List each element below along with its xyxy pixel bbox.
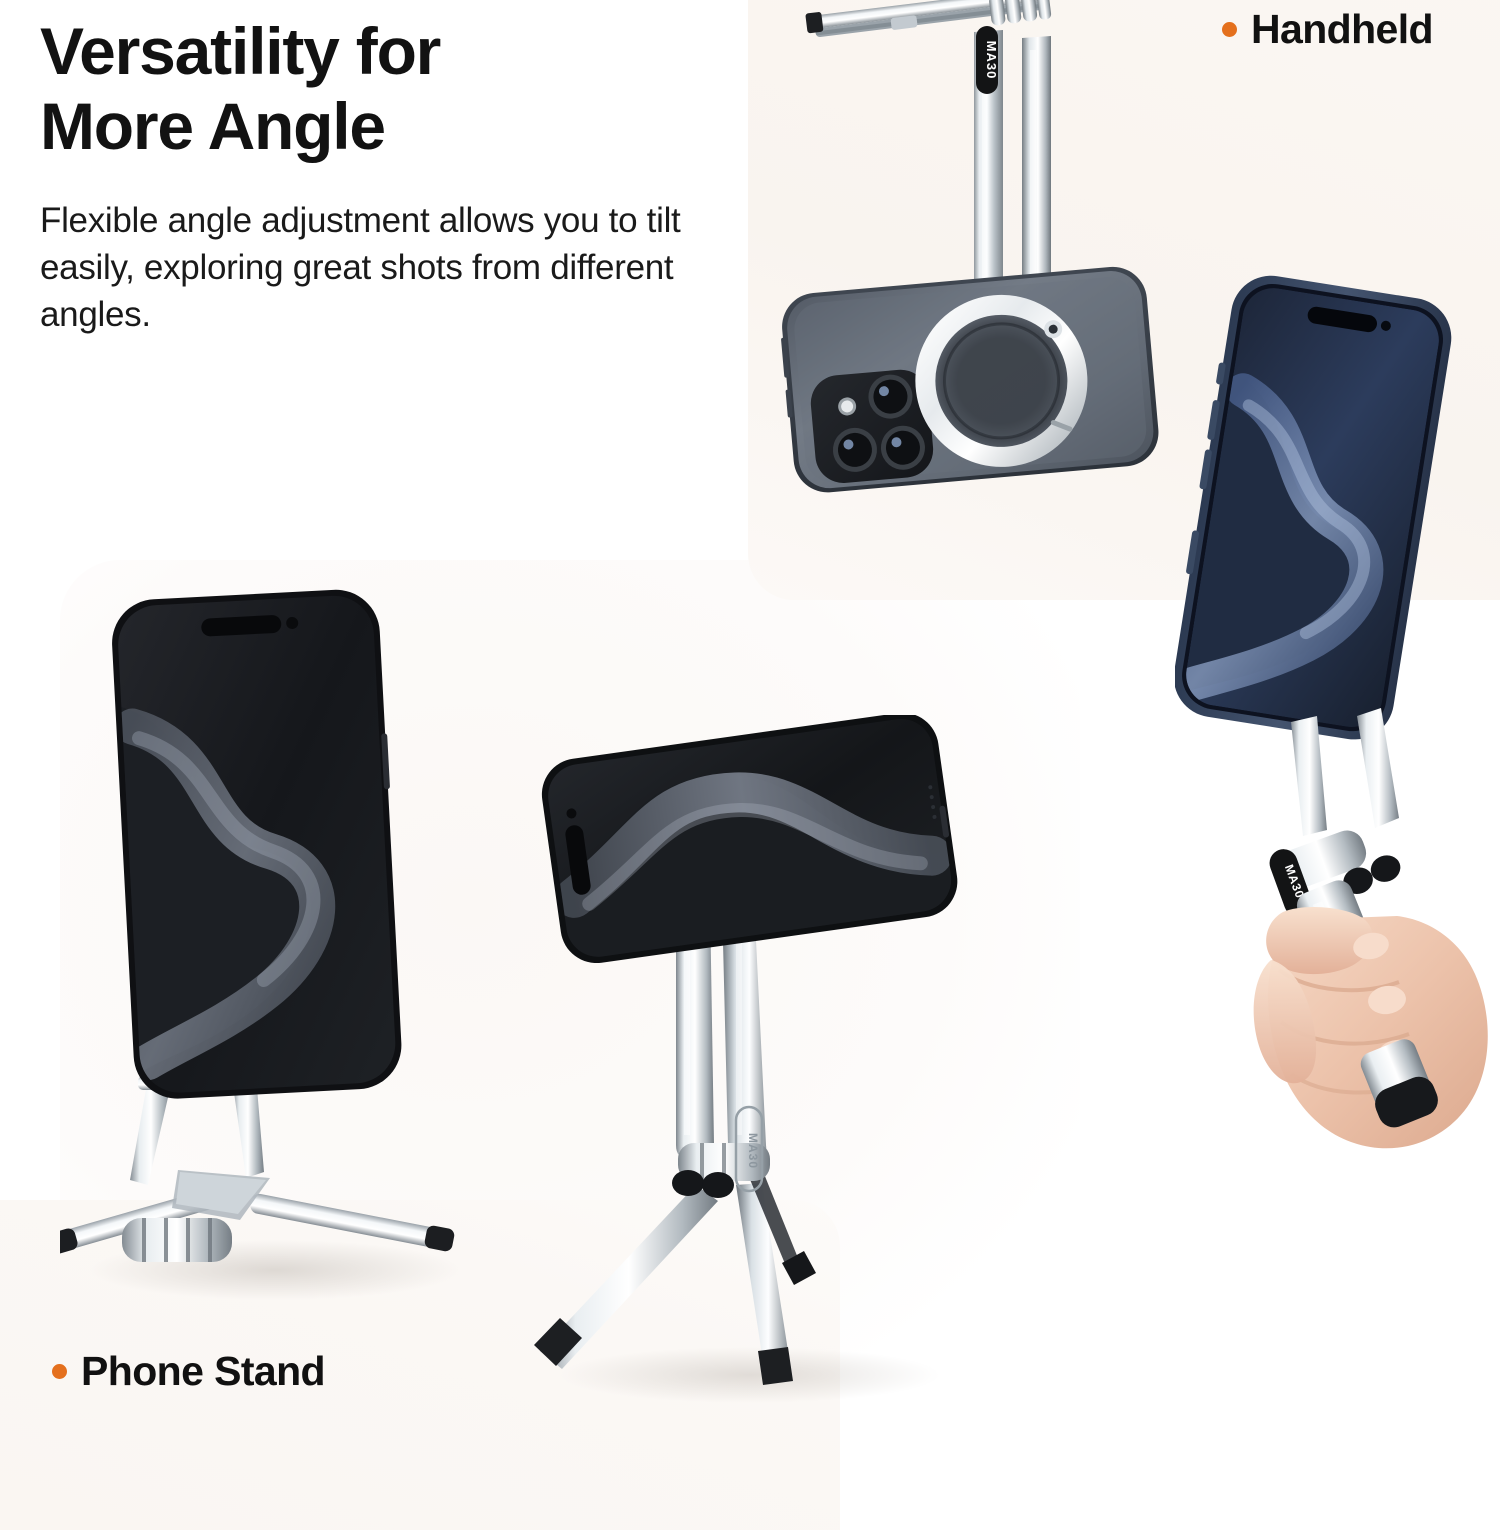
page-title: Versatility for More Angle — [40, 14, 740, 164]
product-shot-handheld-grip: MA30 — [1175, 270, 1500, 1200]
headline-line-1: Versatility for — [40, 14, 440, 88]
subcopy-text: Flexible angle adjustment allows you to … — [40, 198, 730, 338]
bullet-dot-icon — [52, 1364, 67, 1379]
headline-line-2: More Angle — [40, 89, 385, 163]
svg-text:MA30: MA30 — [984, 41, 999, 80]
product-shot-phone-stand-portrait — [60, 580, 490, 1320]
product-shot-phone-stand-landscape: MA30 — [500, 715, 1000, 1415]
callout-phone-stand: Phone Stand — [52, 1348, 325, 1395]
callout-handheld-label: Handheld — [1251, 6, 1433, 53]
headline-block: Versatility for More Angle Flexible angl… — [40, 14, 740, 338]
product-shot-magsafe-ring-mount: MA30 — [760, 0, 1230, 610]
svg-text:MA30: MA30 — [746, 1133, 760, 1169]
product-marketing-canvas: MA30 — [0, 0, 1500, 1463]
callout-phone-stand-label: Phone Stand — [81, 1348, 325, 1395]
callout-handheld: Handheld — [1222, 6, 1433, 53]
bullet-dot-icon — [1222, 22, 1237, 37]
